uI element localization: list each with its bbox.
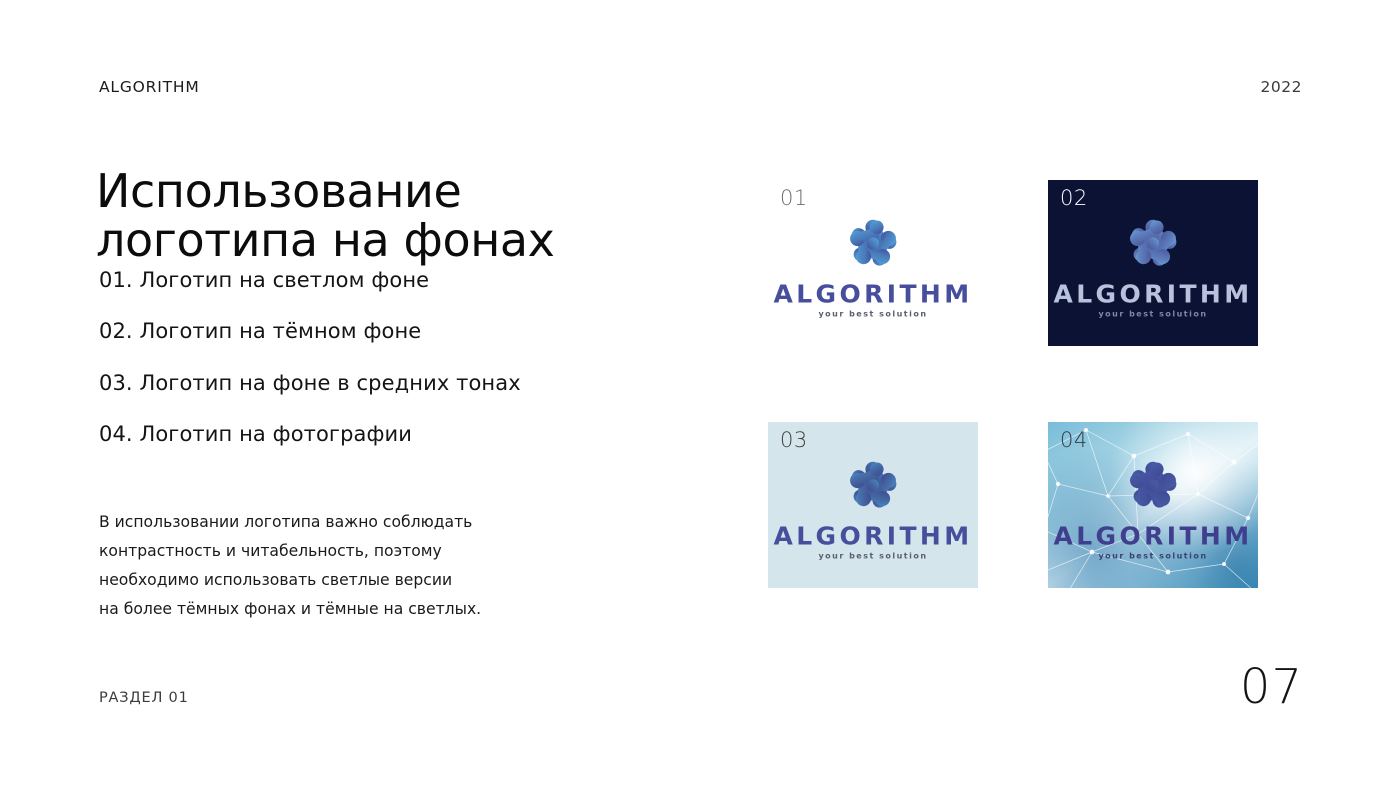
page-title-line-1: Использование — [96, 167, 656, 216]
body-paragraph: В использовании логотипа важно соблюдать… — [99, 508, 551, 623]
logo-card-light[interactable]: 01 — [768, 180, 978, 346]
algorithm-network-logo-icon — [1117, 208, 1189, 280]
logo-card-midtone[interactable]: 03 — [768, 422, 978, 588]
page-title: Использование логотипа на фонах — [96, 167, 656, 265]
logo-card-photo[interactable]: 04 — [1048, 422, 1258, 588]
logo-lockup: ALGORITHM your best solution — [780, 450, 966, 561]
logo-lockup: ALGORITHM your best solution — [780, 208, 966, 319]
body-line-1: В использовании логотипа важно соблюдать — [99, 508, 551, 537]
body-line-2: контрастность и читабельность, поэтому — [99, 537, 551, 566]
logo-usage-grid: 01 — [768, 180, 1260, 590]
logo-tagline: your best solution — [1098, 553, 1207, 561]
page-number: 07 — [1240, 663, 1303, 711]
page-title-line-2: логотипа на фонах — [96, 216, 656, 265]
algorithm-network-logo-icon — [837, 450, 909, 522]
logo-card-dark[interactable]: 02 — [1048, 180, 1258, 346]
numbered-list: 01. Логотип на светлом фоне 02. Логотип … — [99, 268, 529, 446]
logo-wordmark: ALGORITHM — [1053, 524, 1252, 549]
brand-wordmark-header: ALGORITHM — [99, 78, 200, 96]
list-item: 03. Логотип на фоне в средних тонах — [99, 371, 529, 395]
logo-lockup: ALGORITHM your best solution — [1060, 450, 1246, 561]
list-item: 01. Логотип на светлом фоне — [99, 268, 529, 292]
logo-wordmark: ALGORITHM — [773, 282, 972, 307]
algorithm-network-logo-icon — [837, 208, 909, 280]
logo-tagline: your best solution — [1098, 311, 1207, 319]
card-number-label: 01 — [780, 186, 808, 211]
card-number-label: 04 — [1060, 428, 1088, 453]
section-label: РАЗДЕЛ 01 — [99, 690, 189, 706]
card-number-label: 02 — [1060, 186, 1088, 211]
logo-lockup: ALGORITHM your best solution — [1060, 208, 1246, 319]
year-label: 2022 — [1261, 78, 1302, 96]
slide-canvas: ALGORITHM 2022 Использование логотипа на… — [0, 0, 1400, 788]
logo-tagline: your best solution — [818, 311, 927, 319]
list-item: 02. Логотип на тёмном фоне — [99, 319, 529, 343]
logo-wordmark: ALGORITHM — [1053, 282, 1252, 307]
card-number-label: 03 — [780, 428, 808, 453]
body-line-3: необходимо использовать светлые версии — [99, 566, 551, 595]
algorithm-network-logo-icon — [1117, 450, 1189, 522]
body-line-4: на более тёмных фонах и тёмные на светлы… — [99, 595, 551, 624]
logo-tagline: your best solution — [818, 553, 927, 561]
list-item: 04. Логотип на фотографии — [99, 422, 529, 446]
logo-wordmark: ALGORITHM — [773, 524, 972, 549]
